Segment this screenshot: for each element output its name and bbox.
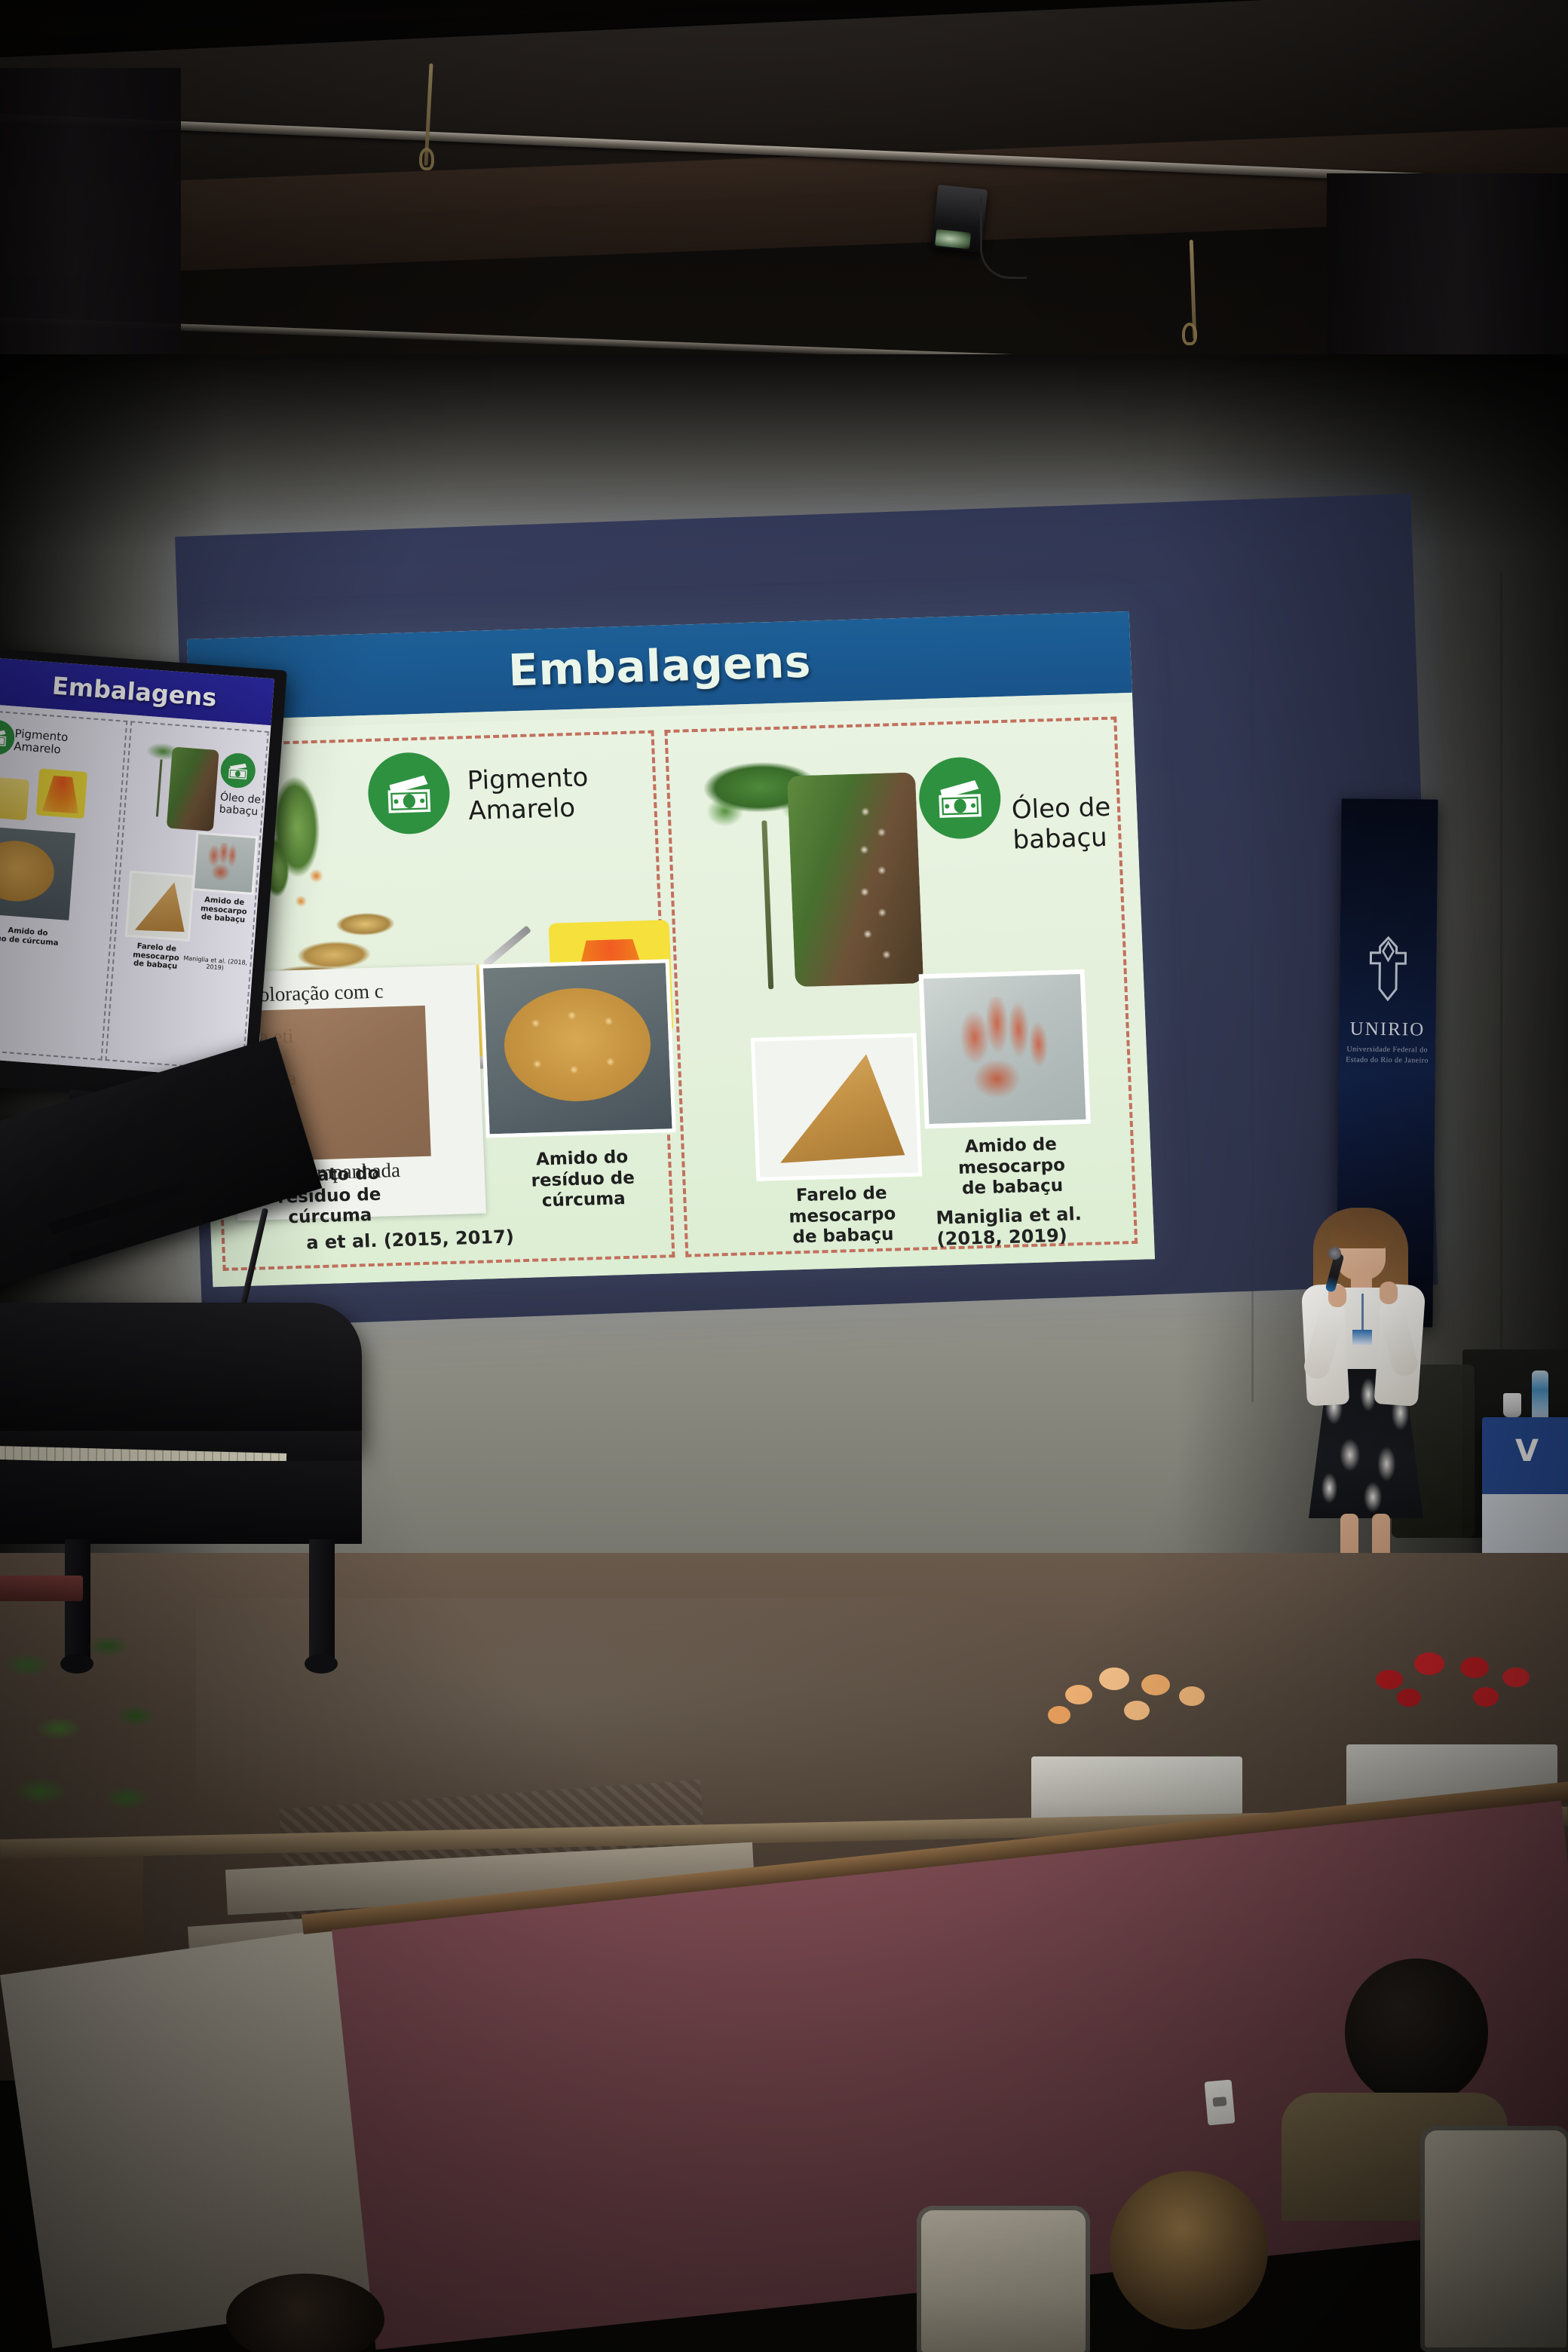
money-icon — [219, 752, 256, 789]
stage-light-lens — [935, 229, 971, 250]
rope-knot-icon — [419, 148, 434, 170]
piano-body — [0, 1303, 362, 1446]
monitor-heading-oleo: Óleo de babaçu — [219, 792, 261, 819]
heading-line-2: babaçu — [219, 804, 259, 819]
hand-in-bioplastic-film-photo — [919, 969, 1091, 1129]
piano-caster — [305, 1654, 338, 1674]
caption-line-2: de babaçu — [962, 1176, 1064, 1199]
citation-right: Maniglia et al. (2018, 2019) — [936, 1202, 1135, 1250]
bloom — [1099, 1668, 1129, 1690]
rope-knot-icon — [1182, 323, 1197, 345]
caption-amido-mesocarpo-babacu: Amido de mesocarpo de babaçu — [922, 1133, 1101, 1201]
presenter-badge — [1352, 1330, 1372, 1345]
slide-panel-oleo-de-babacu: Óleo de babaçu Amido de mesocarpo de bab… — [664, 716, 1138, 1257]
monitor-slide-title: Embalagens — [51, 671, 218, 712]
conference-photo-scene: Embalagens Pigmento — [0, 0, 1568, 2352]
bloom — [1460, 1657, 1489, 1678]
presenter-hair-front — [1330, 1212, 1393, 1248]
monitor-fruit-cluster-photo — [167, 747, 219, 831]
monitor-screen: Embalagens Pigmento Amarelo — [0, 658, 274, 1079]
presenter-lanyard — [1361, 1294, 1364, 1331]
caption-line-2: uo de cúrcuma — [0, 934, 59, 947]
monitor-jelly-photo — [36, 768, 87, 819]
audience-head — [1110, 2171, 1268, 2329]
presenter-hand-right — [1380, 1282, 1398, 1304]
unirio-name: UNIRIO — [1339, 1018, 1435, 1040]
monitor-panel-right: Óleo de babaçu Amido de mesocarpo de bab… — [105, 721, 268, 1071]
caption-amido-residuo-curcuma: Amido do resíduo de cúrcuma — [487, 1146, 679, 1214]
slide-heading-oleo-babacu: Óleo de babaçu — [1011, 792, 1112, 856]
heading-line-1: Óleo de — [1011, 792, 1111, 825]
slide-title: Embalagens — [507, 635, 812, 696]
babacu-fruit-cluster-photo — [787, 772, 923, 987]
monitor-slide-body: Pigmento Amarelo Amido do uo de cúrcuma — [0, 705, 271, 1079]
monitor-petri-photo — [0, 825, 75, 920]
confidence-monitor[interactable]: Embalagens Pigmento Amarelo — [0, 648, 287, 1107]
microphone-head — [1328, 1247, 1341, 1260]
unirio-logo-icon — [1363, 933, 1413, 1006]
monitor-heading-pigmento: Pigmento Amarelo — [14, 727, 69, 758]
planter-orange — [1031, 1655, 1242, 1836]
knife-icon — [482, 925, 531, 967]
subtitle-line-1: Universidade Federal do — [1346, 1045, 1428, 1054]
monitor-butter-photo — [0, 776, 29, 821]
subtitle-line-2: Estado do Rio de Janeiro — [1346, 1055, 1429, 1064]
caption-line-1: Farelo de mesocarpo — [789, 1184, 896, 1227]
audience-seat — [917, 2206, 1090, 2352]
heading-line-1: Pigmento — [467, 762, 589, 796]
monitor-bran-wedge-photo — [125, 871, 194, 942]
caption-line-1: Amido do — [535, 1147, 628, 1170]
slide-heading-pigmento: Pigmento Amarelo — [467, 762, 590, 826]
water-bottle — [1532, 1370, 1548, 1422]
caption-line-2: resíduo de cúrcuma — [531, 1168, 635, 1211]
monitor-caption-amido-curcuma: Amido do uo de cúrcuma — [0, 923, 84, 949]
heading-line-2: babaçu — [1012, 822, 1108, 856]
bloom — [1141, 1674, 1170, 1695]
piano-fallboard — [0, 1461, 362, 1544]
monitor-caption-amido-mesocarpo: Amido de mesocarpo de babaçu — [187, 895, 261, 926]
caption-line-2: de babaçu — [792, 1225, 894, 1248]
stage-light-cable — [980, 198, 1027, 279]
bloom — [1502, 1668, 1530, 1687]
wall-outlet — [1205, 2080, 1236, 2126]
piano-bench — [0, 1576, 83, 1601]
audience-seat — [1420, 2126, 1568, 2352]
unirio-subtitle: Universidade Federal do Estado do Rio de… — [1339, 1044, 1435, 1066]
paper-cup — [1503, 1393, 1521, 1417]
grand-piano — [0, 1123, 422, 1666]
piano-leg — [309, 1539, 335, 1668]
caption-farelo-mesocarpo-babacu: Farelo de mesocarpo de babaçu — [743, 1182, 942, 1250]
babacu-mesocarp-bran-photo — [751, 1033, 923, 1181]
caption-line-1: Amido de mesocarpo — [958, 1135, 1066, 1178]
podium-label: V — [1515, 1434, 1539, 1468]
bloom — [1414, 1652, 1444, 1675]
heading-line-2: Amarelo — [14, 740, 62, 757]
money-icon — [917, 756, 1002, 840]
monitor-hand-film-photo — [192, 831, 259, 895]
audience-head — [1345, 1958, 1488, 2106]
starch-film-petri-photo — [479, 959, 676, 1138]
heading-line-2: Amarelo — [468, 793, 576, 826]
